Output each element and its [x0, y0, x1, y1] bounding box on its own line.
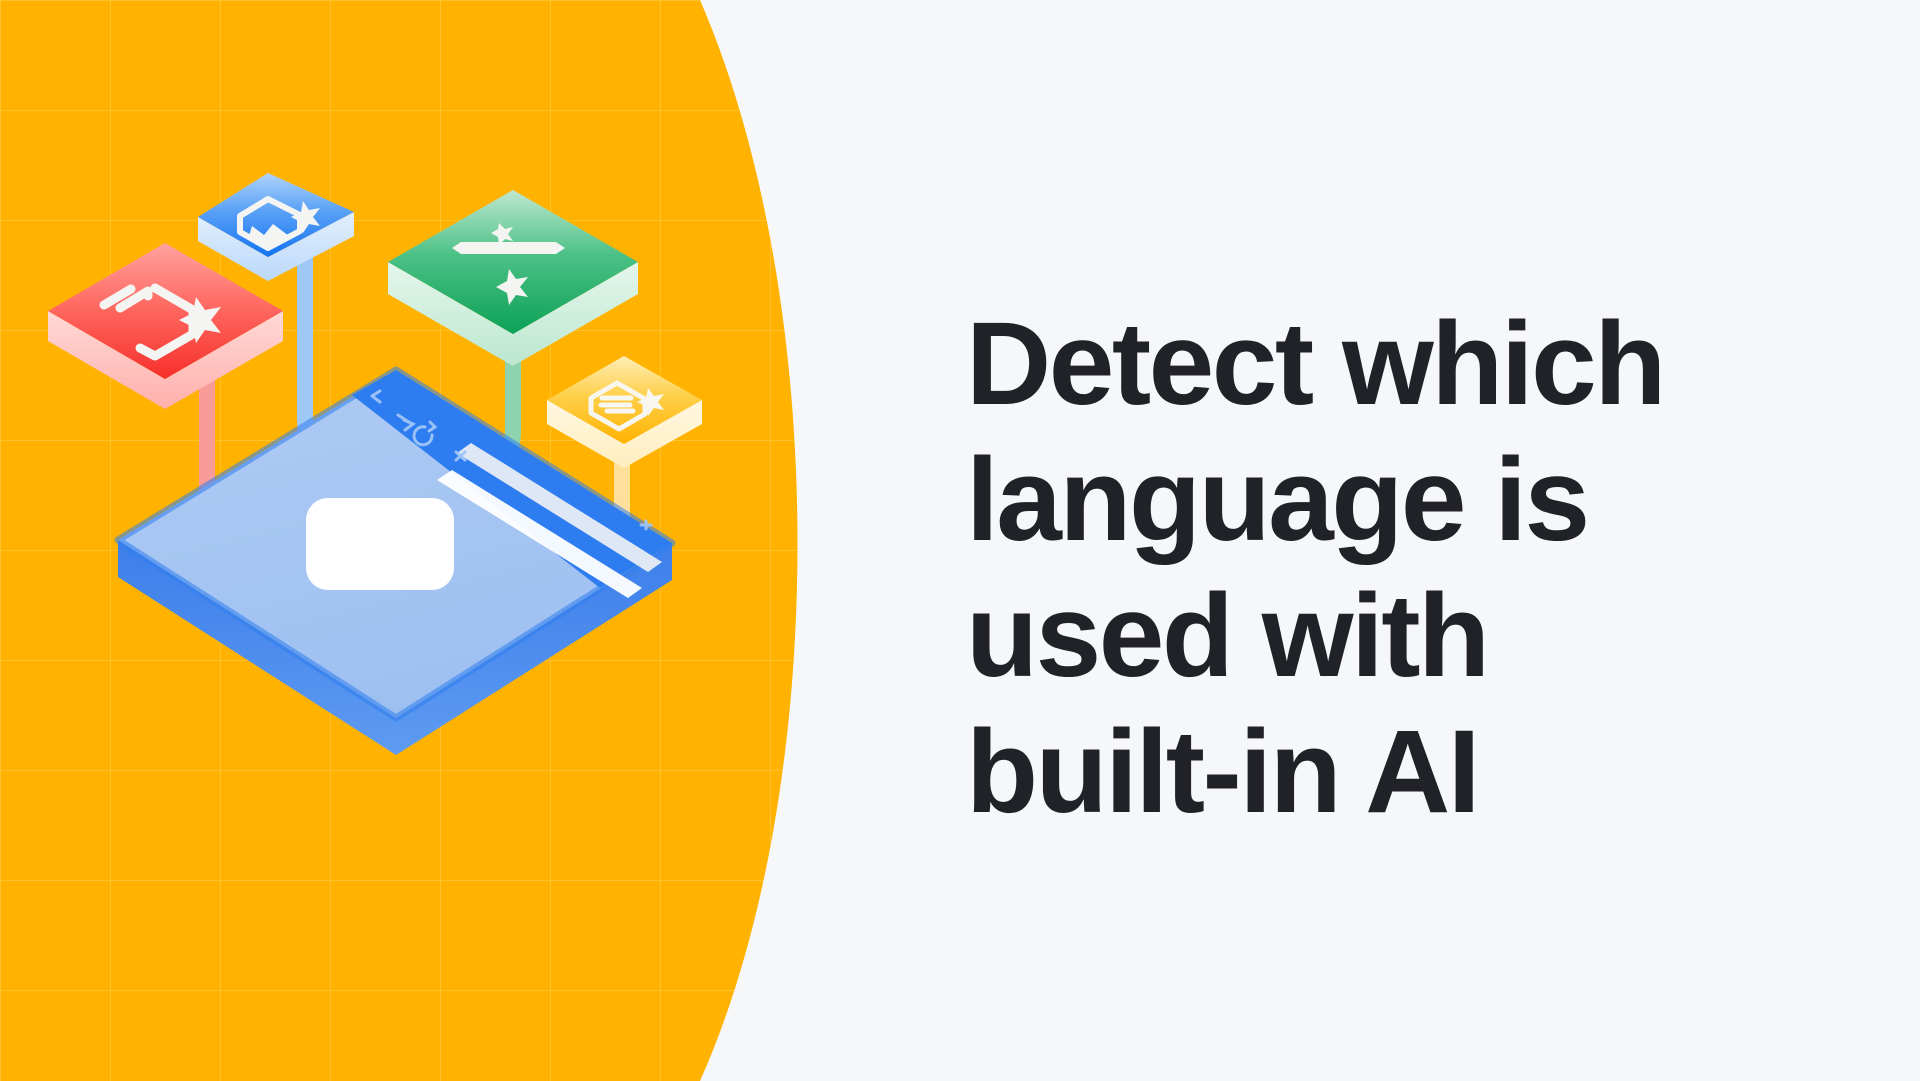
- writer-api-tile[interactable]: [388, 190, 638, 366]
- pencil-icon: [452, 242, 565, 254]
- summarizer-api-tile[interactable]: [547, 356, 702, 468]
- prompt-image-api-tile[interactable]: [198, 173, 354, 281]
- page-title: Detect which language is used with built…: [966, 296, 1786, 840]
- output-card[interactable]: [306, 498, 454, 590]
- slide-canvas: Detect which language is used with built…: [0, 0, 1920, 1081]
